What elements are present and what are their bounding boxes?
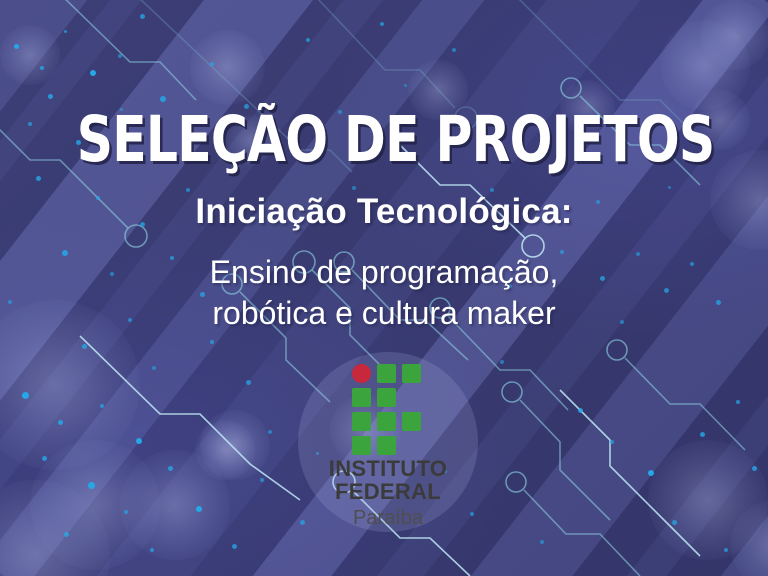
logo-wordmark-line-3: Paraíba [298,505,478,531]
page-title: SELEÇÃO DE PROJETOS [77,108,691,171]
poster-body: Ensino de programação, robótica e cultur… [0,252,768,334]
poster-body-line-1: Ensino de programação, [0,252,768,293]
logo-cell [377,436,396,455]
logo-cell [402,364,421,383]
logo-cell [402,412,421,431]
logo-cell [377,364,396,383]
logo-cell-red-dot [352,364,371,383]
logo-wordmark-line-1: INSTITUTO [298,458,478,481]
poster-body-line-2: robótica e cultura maker [0,293,768,334]
logo-wordmark-line-2: FEDERAL [298,481,478,504]
logo-cell [377,388,396,407]
ifpb-logo: INSTITUTO FEDERAL Paraíba [298,352,478,532]
logo-cell [352,388,371,407]
logo-wordmark: INSTITUTO FEDERAL Paraíba [298,458,478,531]
logo-cell [352,436,371,455]
poster-subtitle: Iniciação Tecnológica: [0,192,768,232]
logo-cell [352,412,371,431]
poster-canvas: SELEÇÃO DE PROJETOS Iniciação Tecnológic… [0,0,768,576]
logo-cell [377,412,396,431]
ifpb-f-mark [352,364,424,454]
